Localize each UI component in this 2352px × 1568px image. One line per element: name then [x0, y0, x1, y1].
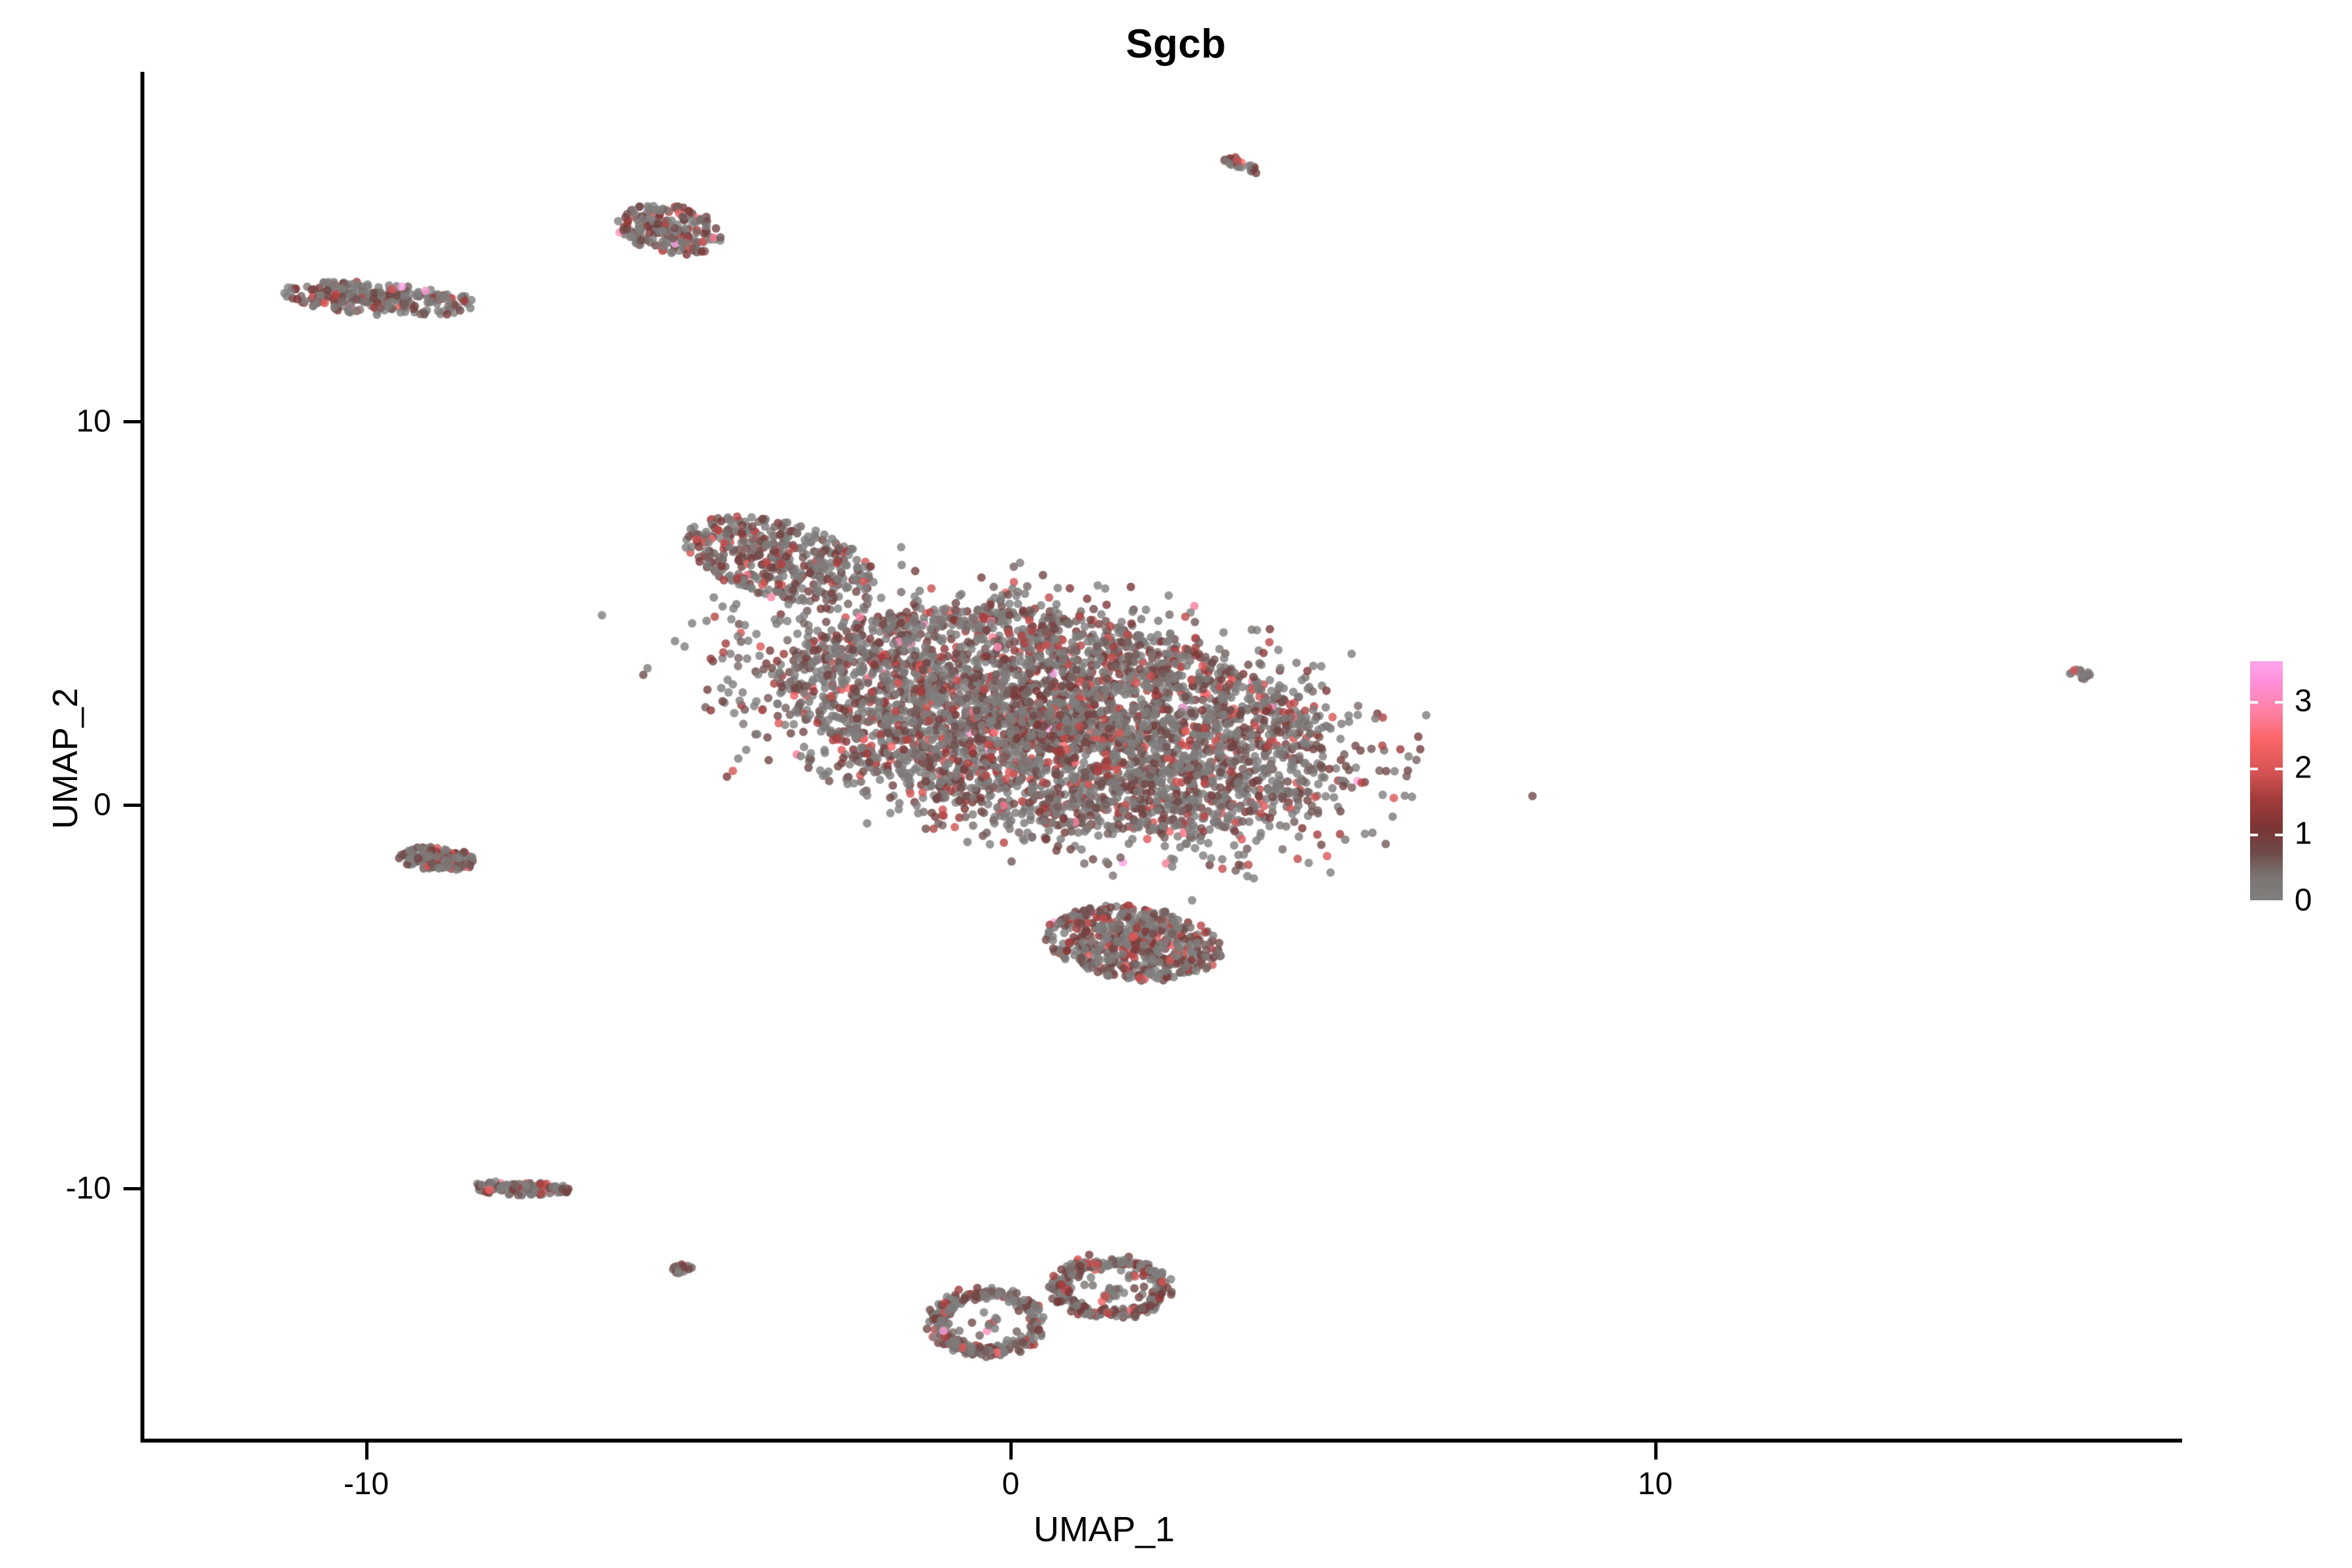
scatter-points-layer [142, 72, 2181, 1441]
y-axis-line [140, 72, 144, 1443]
colorbar-tick-label: 1 [2295, 816, 2312, 852]
x-tick-mark [365, 1443, 368, 1460]
x-tick-mark [1009, 1443, 1013, 1460]
x-tick-label: 0 [932, 1466, 1089, 1502]
y-axis-title: UMAP_2 [45, 367, 86, 1151]
x-axis-line [140, 1439, 2182, 1443]
y-tick-mark [123, 420, 140, 423]
feature-plot-figure: Sgcb -10010 100-10 UMAP_1 UMAP_2 3210 [0, 0, 2352, 1568]
x-tick-mark [1654, 1443, 1658, 1460]
colorbar-tick-mark [2275, 768, 2283, 770]
colorbar-tick-label: 0 [2295, 883, 2312, 919]
x-tick-label: 10 [1577, 1466, 1734, 1502]
colorbar-tick-label: 3 [2295, 683, 2312, 719]
colorbar-tick-mark [2250, 701, 2258, 704]
colorbar-gradient [2250, 661, 2283, 900]
colorbar-tick-label: 2 [2295, 749, 2312, 785]
x-axis-title: UMAP_1 [0, 1509, 2208, 1550]
scatter-plot-panel [142, 72, 2181, 1441]
colorbar-tick-mark [2250, 834, 2258, 836]
y-tick-mark [123, 804, 140, 807]
colorbar-tick-mark [2275, 701, 2283, 704]
colorbar-legend: 3210 [2241, 653, 2345, 915]
colorbar-tick-mark [2250, 768, 2258, 770]
y-tick-mark [123, 1187, 140, 1190]
y-tick-label: -10 [0, 1171, 111, 1207]
x-tick-label: -10 [288, 1466, 445, 1502]
colorbar-tick-mark [2275, 834, 2283, 836]
page-title: Sgcb [0, 21, 2352, 67]
